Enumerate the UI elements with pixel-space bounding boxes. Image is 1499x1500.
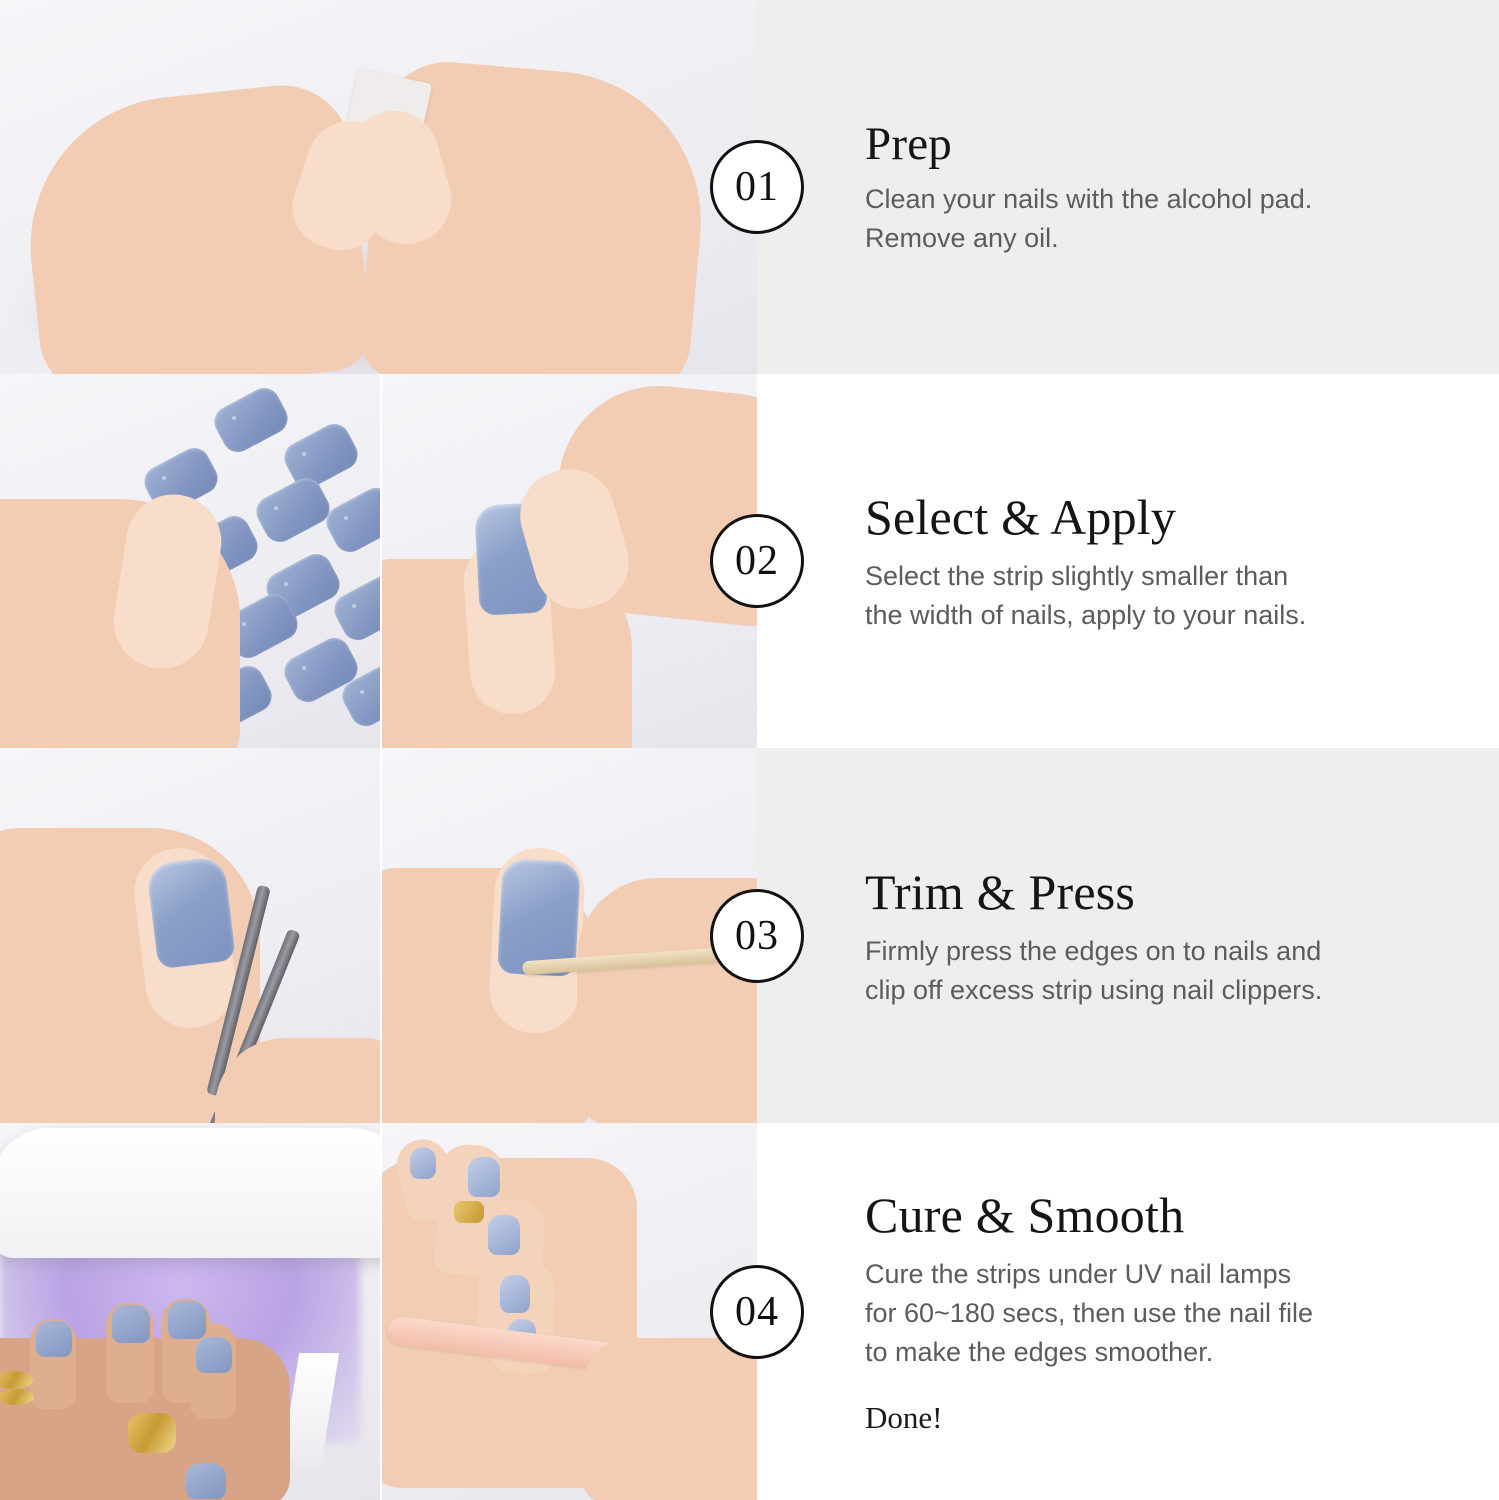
uv-lamp-shape — [0, 1128, 382, 1258]
step-description-02: Select the strip slightly smaller than t… — [865, 557, 1385, 635]
photo-column-03 — [0, 748, 757, 1123]
step-description-01: Clean your nails with the alcohol pad. R… — [865, 180, 1385, 258]
step-row-01: 01 Prep Clean your nails with the alcoho… — [0, 0, 1499, 374]
step-row-04: 04 Cure & Smooth Cure the strips under U… — [0, 1123, 1499, 1500]
blue-nail-shape — [186, 1463, 226, 1499]
blue-nail-shape — [36, 1321, 72, 1357]
blue-nail-shape — [488, 1215, 520, 1255]
gold-ring-shape — [128, 1413, 176, 1453]
step-number-03: 03 — [735, 915, 779, 957]
step-title-03: Trim & Press — [865, 862, 1499, 922]
step-photo-press — [382, 748, 757, 1123]
blue-nail-shape — [146, 856, 236, 970]
step-photo-apply-strip — [382, 374, 757, 748]
blue-nail-shape — [196, 1337, 232, 1373]
step-photo-prep — [0, 0, 757, 374]
step-row-03: 03 Trim & Press Firmly press the edges o… — [0, 748, 1499, 1123]
step-footnote-done: Done! — [865, 1398, 1499, 1438]
step-title-04: Cure & Smooth — [865, 1185, 1499, 1245]
step-row-02: 02 Select & Apply Select the strip sligh… — [0, 374, 1499, 748]
step-number-02: 02 — [735, 540, 779, 582]
step-number-01: 01 — [735, 166, 779, 208]
step-text-01: Prep Clean your nails with the alcohol p… — [757, 0, 1499, 374]
step-number-badge-01: 01 — [710, 140, 804, 234]
step-description-03: Firmly press the edges on to nails and c… — [865, 932, 1385, 1010]
step-description-04: Cure the strips under UV nail lamps for … — [865, 1255, 1385, 1372]
second-hand-shape — [582, 1338, 757, 1500]
blue-nail-shape — [468, 1157, 500, 1197]
gold-ring-shape — [454, 1201, 484, 1223]
instruction-sheet: 01 Prep Clean your nails with the alcoho… — [0, 0, 1499, 1500]
step-text-04: Cure & Smooth Cure the strips under UV n… — [757, 1123, 1499, 1500]
step-photo-strip-sheet — [0, 374, 382, 748]
blue-nail-shape — [168, 1301, 206, 1339]
step-number-badge-04: 04 — [710, 1265, 804, 1359]
step-title-02: Select & Apply — [865, 487, 1499, 547]
step-number-badge-02: 02 — [710, 514, 804, 608]
blue-nail-shape — [410, 1147, 436, 1179]
step-photo-trim — [0, 748, 382, 1123]
step-text-02: Select & Apply Select the strip slightly… — [757, 374, 1499, 748]
photo-column-04 — [0, 1123, 757, 1500]
step-number-04: 04 — [735, 1291, 779, 1333]
photo-column-02 — [0, 374, 757, 748]
blue-nail-shape — [500, 1275, 530, 1313]
step-title-01: Prep — [865, 116, 1499, 172]
step-photo-uv-lamp — [0, 1123, 382, 1500]
step-photo-file — [382, 1123, 757, 1500]
step-text-03: Trim & Press Firmly press the edges on t… — [757, 748, 1499, 1123]
blue-nail-shape — [112, 1305, 150, 1343]
step-number-badge-03: 03 — [710, 889, 804, 983]
photo-column-01 — [0, 0, 757, 374]
